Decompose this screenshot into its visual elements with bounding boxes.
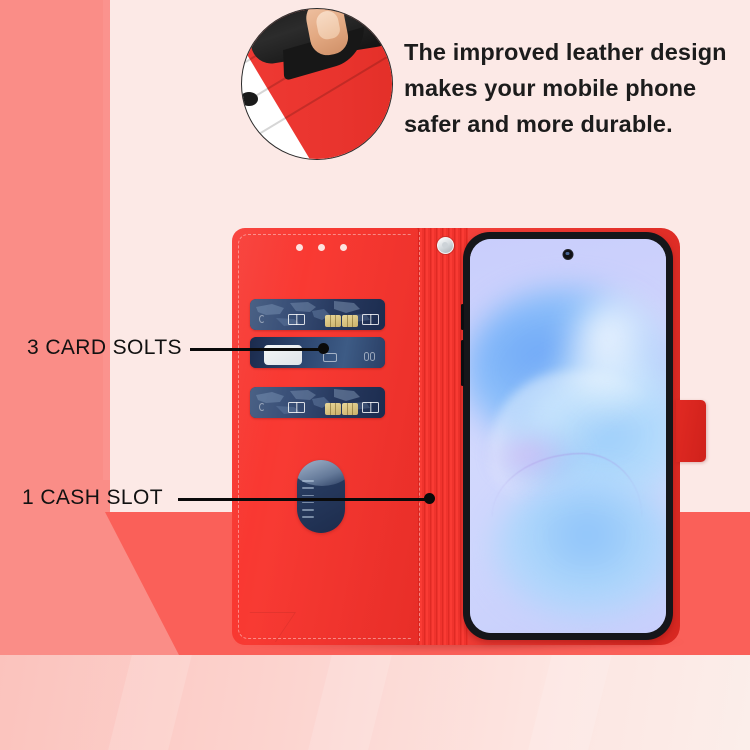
card-slot-3 [250, 387, 385, 418]
rivet-dot [296, 244, 303, 251]
card-micro-mark [259, 403, 265, 411]
card-logo-square [288, 402, 305, 413]
headline-line-2: makes your mobile phone [404, 70, 740, 106]
lanyard-ring-grommet [437, 237, 454, 254]
volume-button [461, 304, 465, 330]
headline-copy: The improved leather design makes your m… [404, 34, 740, 142]
card-logo-square [288, 314, 305, 325]
card-slot-2 [250, 337, 385, 368]
card-logo-square [362, 314, 379, 325]
callout-cash-slot-leader-line [178, 498, 430, 501]
card-chip [325, 403, 341, 415]
callout-card-slots-leader-line [190, 348, 323, 351]
case-spine-stitching [419, 232, 420, 641]
callout-cash-slot-leader-dot [424, 493, 435, 504]
inset-corner-nub [241, 92, 258, 106]
phone-device [463, 232, 673, 640]
phone-screen [470, 239, 666, 633]
product-feature-graphic: The improved leather design makes your m… [0, 0, 750, 750]
card-micro-mark [364, 352, 369, 361]
front-camera-icon [563, 249, 574, 260]
cash-slot-pocket [297, 460, 345, 533]
card-chip [325, 315, 341, 327]
case-card-wing [232, 228, 418, 645]
callout-card-slots-leader-dot [318, 343, 329, 354]
card-micro-mark [370, 352, 375, 361]
card-micro-mark [259, 315, 265, 323]
wallpaper-specular-highlight [566, 297, 666, 417]
headline-line-3: safer and more durable. [404, 106, 740, 142]
card-contactless-icon [323, 353, 337, 362]
case-wing-stitching [238, 234, 412, 639]
magnetic-flap-tab [676, 400, 706, 462]
card-chip [342, 315, 358, 327]
leather-flex-closeup-inset [241, 8, 393, 160]
case-spine-hinge [416, 228, 468, 645]
rivet-dot [318, 244, 325, 251]
callout-cash-slot-label: 1 CASH SLOT [22, 486, 163, 510]
rivet-dot [340, 244, 347, 251]
card-logo-square [362, 402, 379, 413]
headline-line-1: The improved leather design [404, 34, 740, 70]
power-button [461, 340, 465, 386]
card-chip [342, 403, 358, 415]
card-slot-1 [250, 299, 385, 330]
callout-card-slots-label: 3 CARD SOLTS [27, 336, 182, 360]
